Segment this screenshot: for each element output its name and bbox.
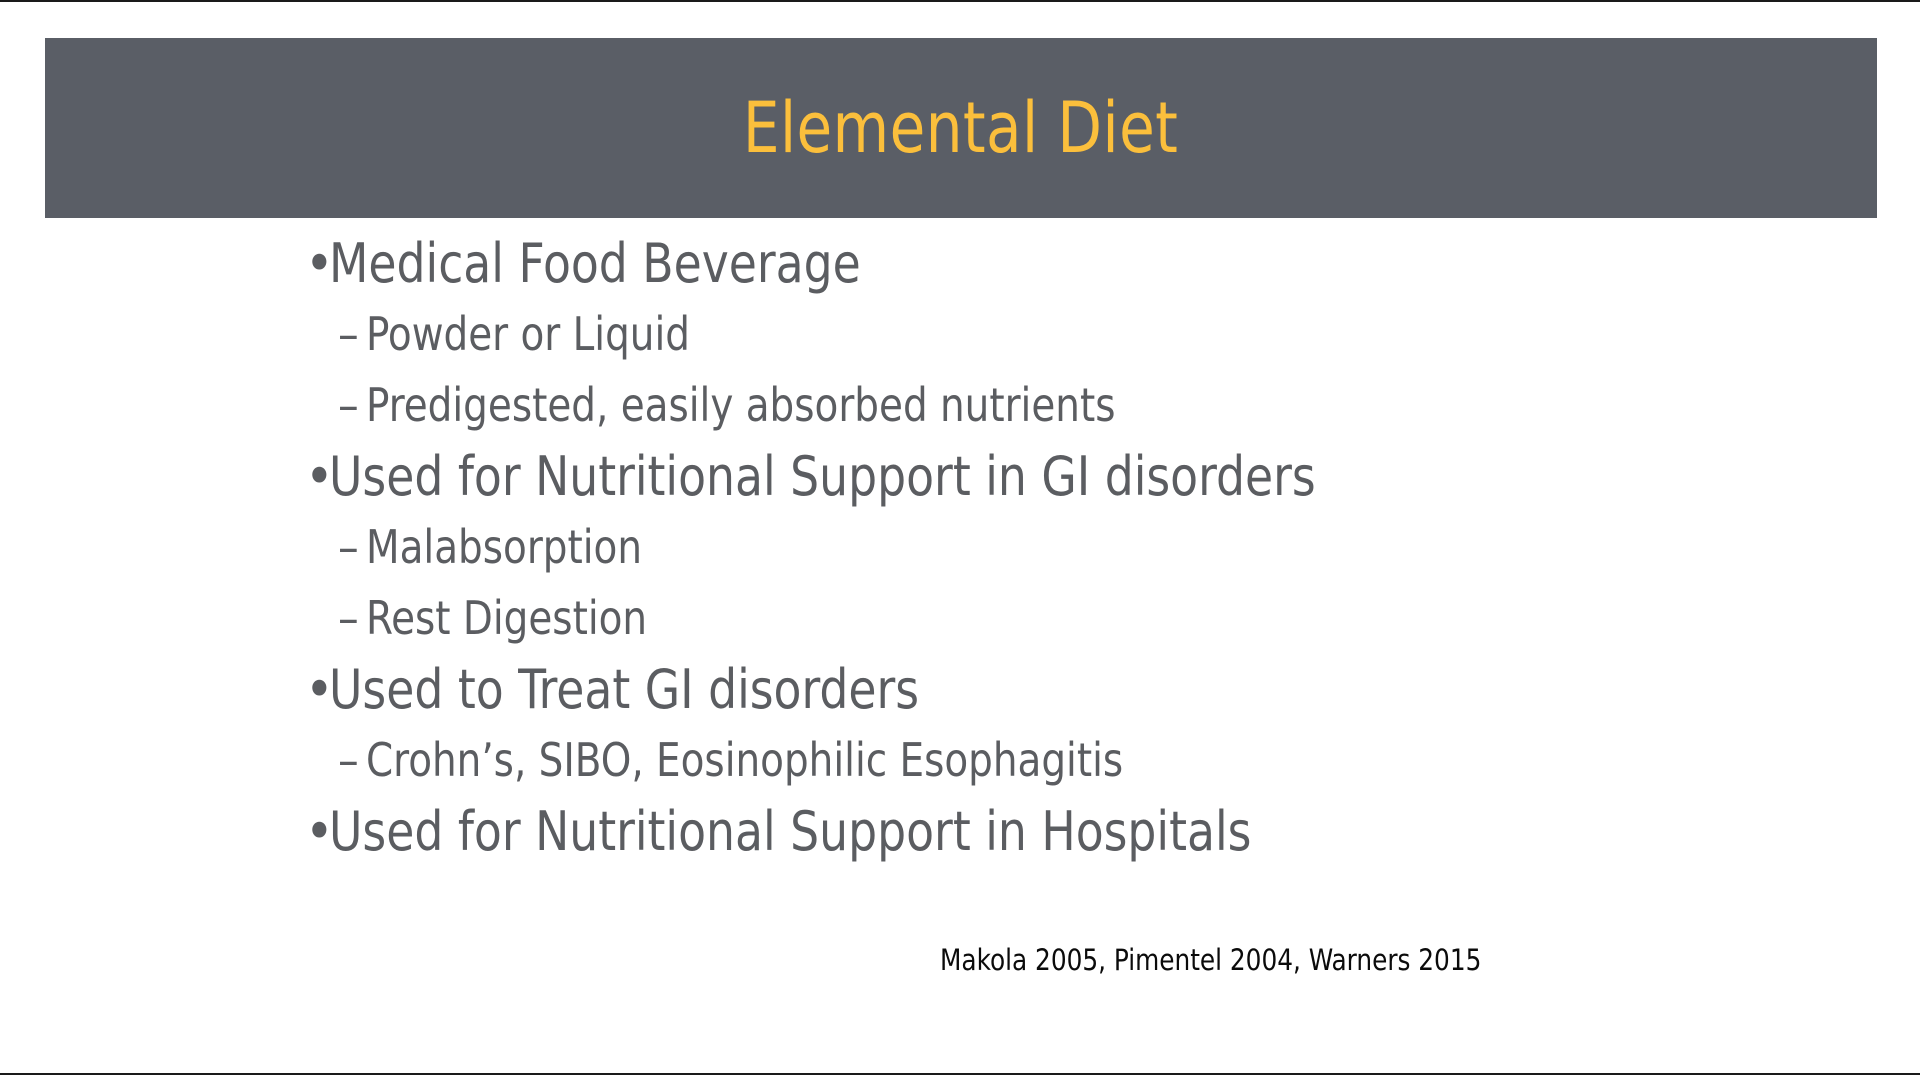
bullet-dash-icon: – (338, 370, 366, 441)
bullet-dot-icon: • (305, 228, 329, 299)
bullet-item-label: Malabsorption (366, 512, 642, 583)
bullet-item-label: Crohn’s, SIBO, Eosinophilic Esophagitis (366, 725, 1123, 796)
bullet-dash-icon: – (338, 583, 366, 654)
bullet-item-label: Rest Digestion (366, 583, 647, 654)
bullet-dot-icon: • (305, 654, 329, 725)
bullet-item: •Used for Nutritional Support in GI diso… (305, 441, 1865, 512)
frame-rule-bottom (0, 1073, 1920, 1075)
bullet-item-label: Medical Food Beverage (329, 228, 861, 299)
bullet-item-label: Predigested, easily absorbed nutrients (366, 370, 1115, 441)
bullet-item-label: Used for Nutritional Support in Hospital… (329, 796, 1251, 867)
citation-text: Makola 2005, Pimentel 2004, Warners 2015 (940, 946, 1481, 975)
frame-rule-top (0, 0, 1920, 2)
bullet-item: •Medical Food Beverage (305, 228, 1865, 299)
title-banner: Elemental Diet (45, 38, 1877, 218)
bullet-dot-icon: • (305, 796, 329, 867)
bullet-item-label: Used for Nutritional Support in GI disor… (329, 441, 1316, 512)
slide-title: Elemental Diet (743, 93, 1178, 163)
bullet-item: •Used to Treat GI disorders (305, 654, 1865, 725)
bullet-dash-icon: – (338, 725, 366, 796)
bullet-item: •Used for Nutritional Support in Hospita… (305, 796, 1865, 867)
slide-canvas: Elemental Diet •Medical Food Beverage–Po… (0, 0, 1920, 1080)
bullet-item: –Rest Digestion (338, 583, 1865, 654)
bullet-item: –Crohn’s, SIBO, Eosinophilic Esophagitis (338, 725, 1865, 796)
bullet-item: –Predigested, easily absorbed nutrients (338, 370, 1865, 441)
bullet-dot-icon: • (305, 441, 329, 512)
bullet-item: –Malabsorption (338, 512, 1865, 583)
bullet-list: •Medical Food Beverage–Powder or Liquid–… (305, 228, 1865, 867)
bullet-dash-icon: – (338, 512, 366, 583)
bullet-item: –Powder or Liquid (338, 299, 1865, 370)
bullet-item-label: Used to Treat GI disorders (329, 654, 919, 725)
bullet-item-label: Powder or Liquid (366, 299, 690, 370)
bullet-dash-icon: – (338, 299, 366, 370)
